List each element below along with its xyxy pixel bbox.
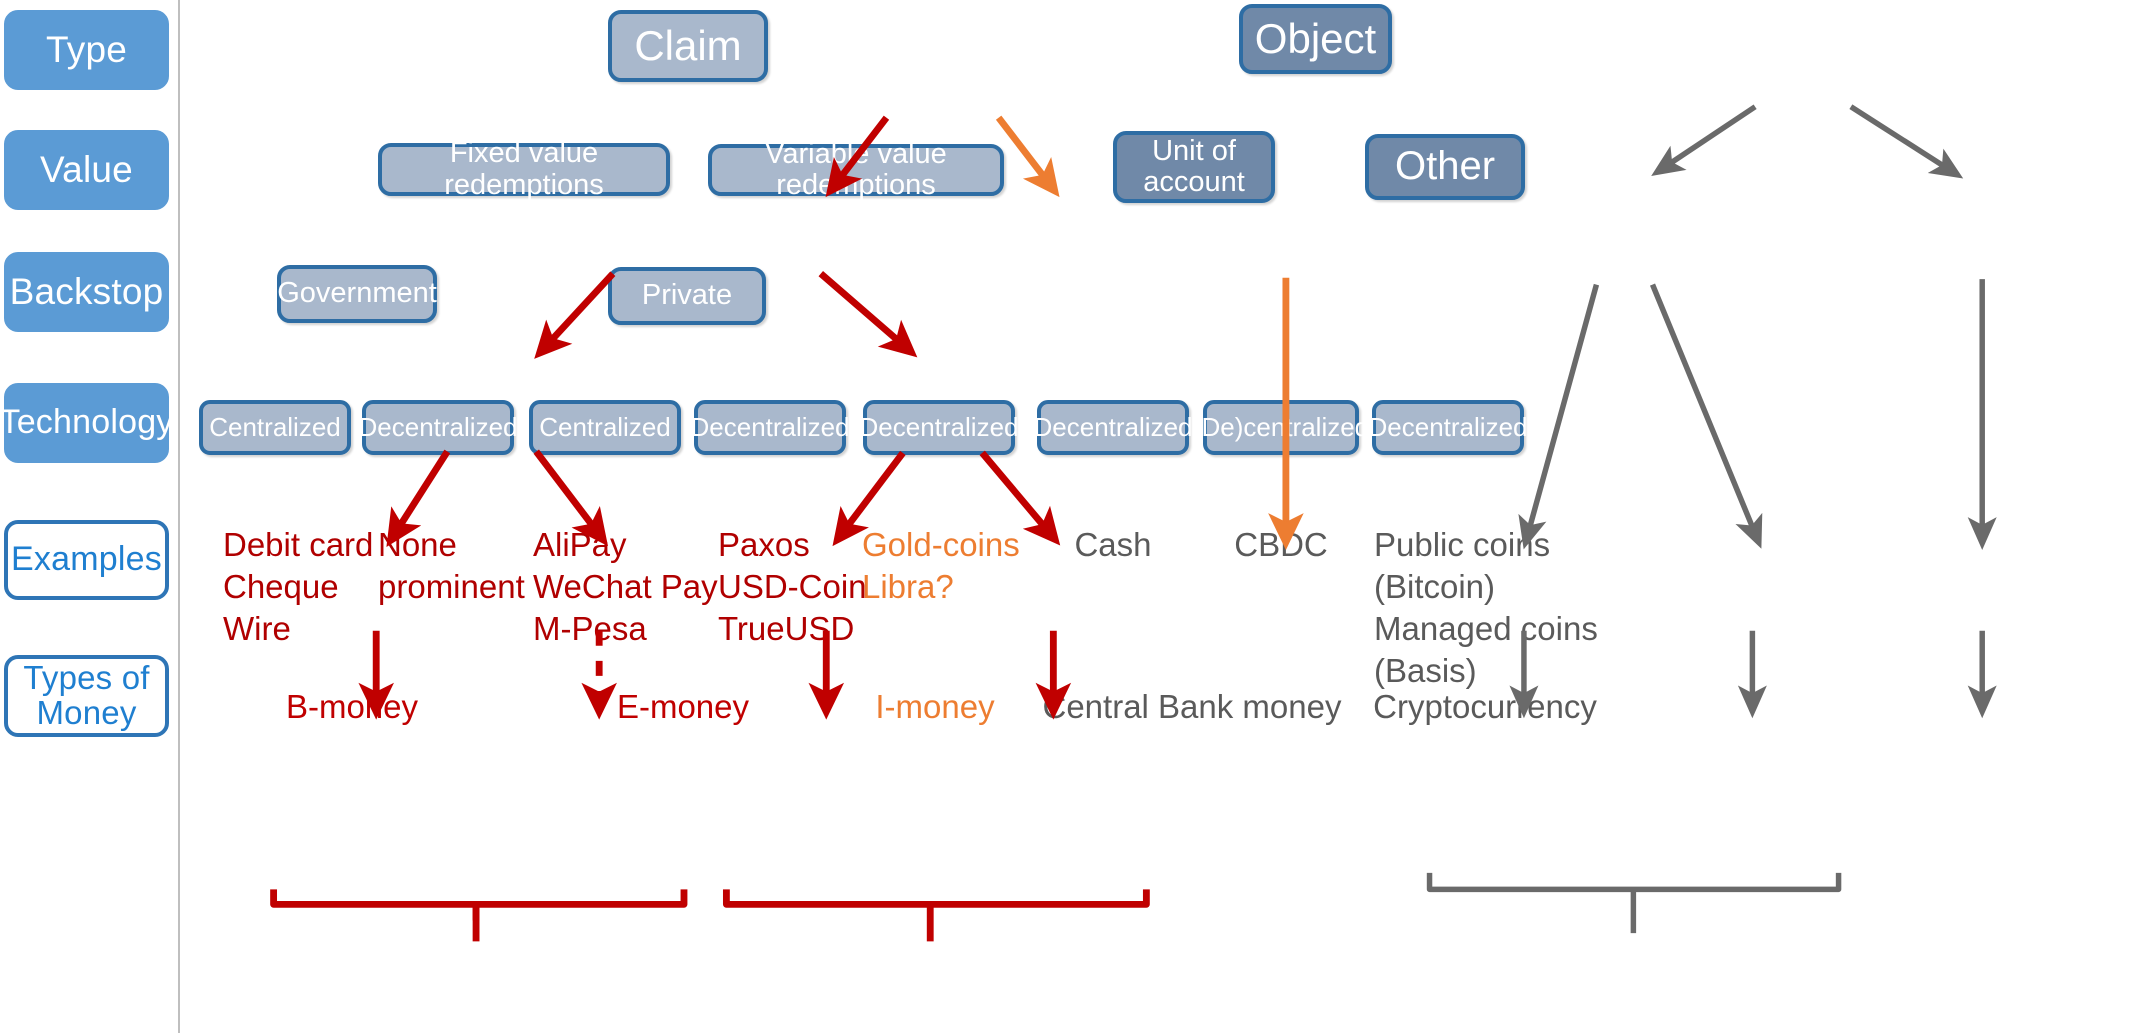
diagram-canvas: Type Value Backstop Technology Examples … <box>0 0 2145 1033</box>
column-divider <box>178 0 180 1033</box>
node-tech-priv-decentralized[interactable]: Decentralized <box>694 400 846 455</box>
node-variable-value-redemptions[interactable]: Variable value redemptions <box>708 144 1004 196</box>
examples-cbdc: CBDC <box>1222 524 1340 566</box>
examples-b-money-centralized: Debit card Cheque Wire <box>223 524 393 650</box>
row-label-technology[interactable]: Technology <box>4 383 169 463</box>
node-other[interactable]: Other <box>1365 134 1525 200</box>
examples-e-money-centralized: AliPay WeChat Pay M-Pesa <box>533 524 743 650</box>
money-type-b-money: B-money <box>252 688 452 726</box>
examples-cash: Cash <box>1058 524 1168 566</box>
row-label-examples[interactable]: Examples <box>4 520 169 600</box>
node-tech-cash-decentralized[interactable]: Decentralized <box>1037 400 1189 455</box>
node-tech-other-decentralized[interactable]: Decentralized <box>1372 400 1524 455</box>
node-fixed-value-redemptions[interactable]: Fixed value redemptions <box>378 143 670 196</box>
examples-cryptocurrency: Public coins (Bitcoin) Managed coins (Ba… <box>1374 524 1624 692</box>
row-label-type[interactable]: Type <box>4 10 169 90</box>
examples-i-money: Gold-coins Libra? <box>862 524 1052 608</box>
node-private[interactable]: Private <box>608 267 766 325</box>
row-label-value[interactable]: Value <box>4 130 169 210</box>
node-claim[interactable]: Claim <box>608 10 768 82</box>
money-type-e-money: E-money <box>583 688 783 726</box>
money-type-central-bank-money: Central Bank money <box>1042 688 1342 726</box>
node-unit-of-account[interactable]: Unit of account <box>1113 131 1275 203</box>
node-tech-gov-centralized[interactable]: Centralized <box>199 400 351 455</box>
node-government[interactable]: Government <box>277 265 437 323</box>
node-tech-variable-decentralized[interactable]: Decentralized <box>863 400 1015 455</box>
node-tech-cbdc-decentralized[interactable]: (De)centralized <box>1203 400 1359 455</box>
examples-b-money-decentralized: None prominent <box>378 524 558 608</box>
node-object[interactable]: Object <box>1239 4 1392 74</box>
money-type-i-money: I-money <box>860 688 1010 726</box>
node-tech-priv-centralized[interactable]: Centralized <box>529 400 681 455</box>
row-label-backstop[interactable]: Backstop <box>4 252 169 332</box>
node-tech-gov-decentralized[interactable]: Decentralized <box>362 400 514 455</box>
money-type-cryptocurrency: Cryptocurrency <box>1365 688 1605 726</box>
row-label-types-of-money[interactable]: Types of Money <box>4 655 169 737</box>
